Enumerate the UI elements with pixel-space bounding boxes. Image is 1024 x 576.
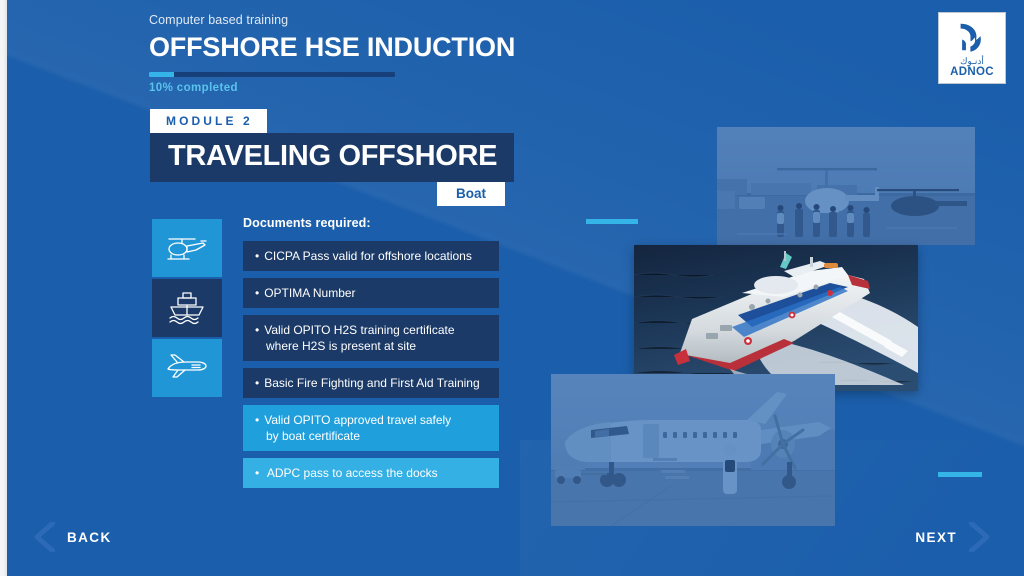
documents-title: Documents required:: [243, 216, 499, 230]
helicopter-icon: [165, 232, 209, 264]
course-progress: 10% completed: [149, 72, 395, 94]
progress-fill: [149, 72, 174, 77]
course-header: Computer based training OFFSHORE HSE IND…: [149, 12, 515, 94]
ship-icon: [166, 291, 208, 325]
document-item: •Valid OPITO approved travel safelyby bo…: [243, 405, 499, 451]
transport-tile-boat[interactable]: [152, 279, 222, 337]
document-item: •OPTIMA Number: [243, 278, 499, 308]
module-heading-block: MODULE 2 TRAVELING OFFSHORE Boat: [150, 109, 514, 206]
document-item-label: CICPA Pass valid for offshore locations: [264, 249, 472, 263]
left-edge-strip: [0, 0, 7, 576]
slide-root: Computer based training OFFSHORE HSE IND…: [0, 0, 1024, 576]
transport-mode-tiles: [152, 219, 222, 399]
next-button-label: NEXT: [915, 530, 957, 545]
helicopter-photo: [717, 127, 975, 245]
falcon-icon: [953, 18, 991, 56]
boat-photo-art: [634, 245, 918, 391]
adnoc-logo: أدنـوك ADNOC: [938, 12, 1006, 84]
back-button-label: BACK: [67, 530, 112, 545]
chevron-right-icon: [969, 522, 991, 552]
adnoc-wordmark: ADNOC: [950, 66, 994, 79]
document-item-label-line2: where H2S is present at site: [255, 338, 489, 354]
document-item-label-line2: by boat certificate: [255, 428, 489, 444]
helicopter-photo-tint-overlay: [717, 127, 975, 245]
document-item-label: Basic Fire Fighting and First Aid Traini…: [264, 376, 479, 390]
document-item: • ADPC pass to access the docks: [243, 458, 499, 488]
document-item: •Valid OPITO H2S training certificatewhe…: [243, 315, 499, 361]
course-eyebrow: Computer based training: [149, 12, 515, 28]
module-sub-badge-row: Boat: [150, 182, 505, 206]
module-title: TRAVELING OFFSHORE: [150, 133, 514, 182]
airplane-icon: [164, 353, 210, 383]
bullet-icon: •: [255, 466, 259, 480]
airplane-photo: [551, 374, 835, 526]
airplane-photo-tint-overlay: [551, 374, 835, 526]
boat-photo: [634, 245, 918, 391]
bullet-icon: •: [255, 323, 259, 337]
progress-label: 10% completed: [149, 82, 395, 94]
document-item: •Basic Fire Fighting and First Aid Train…: [243, 368, 499, 398]
chevron-left-icon: [33, 522, 55, 552]
back-button[interactable]: BACK: [33, 522, 112, 552]
document-item-label: Valid OPITO H2S training certificate: [264, 323, 454, 337]
documents-list: •CICPA Pass valid for offshore locations…: [243, 241, 499, 488]
accent-dash-bottom: [938, 472, 982, 477]
course-title: OFFSHORE HSE INDUCTION: [149, 31, 515, 63]
document-item-label: Valid OPITO approved travel safely: [264, 413, 451, 427]
next-button[interactable]: NEXT: [915, 522, 991, 552]
module-sub-badge: Boat: [437, 182, 505, 206]
transport-tile-airplane[interactable]: [152, 339, 222, 397]
accent-dash-top: [586, 219, 638, 224]
documents-panel: Documents required: •CICPA Pass valid fo…: [243, 216, 499, 495]
progress-track: [149, 72, 395, 77]
transport-tile-helicopter[interactable]: [152, 219, 222, 277]
document-item-label: OPTIMA Number: [264, 286, 355, 300]
document-item-label: ADPC pass to access the docks: [264, 466, 437, 480]
bullet-icon: •: [255, 249, 259, 263]
document-item: •CICPA Pass valid for offshore locations: [243, 241, 499, 271]
bullet-icon: •: [255, 413, 259, 427]
adnoc-arabic-text: أدنـوك: [960, 57, 984, 66]
module-badge: MODULE 2: [150, 109, 267, 133]
bullet-icon: •: [255, 286, 259, 300]
bullet-icon: •: [255, 376, 259, 390]
